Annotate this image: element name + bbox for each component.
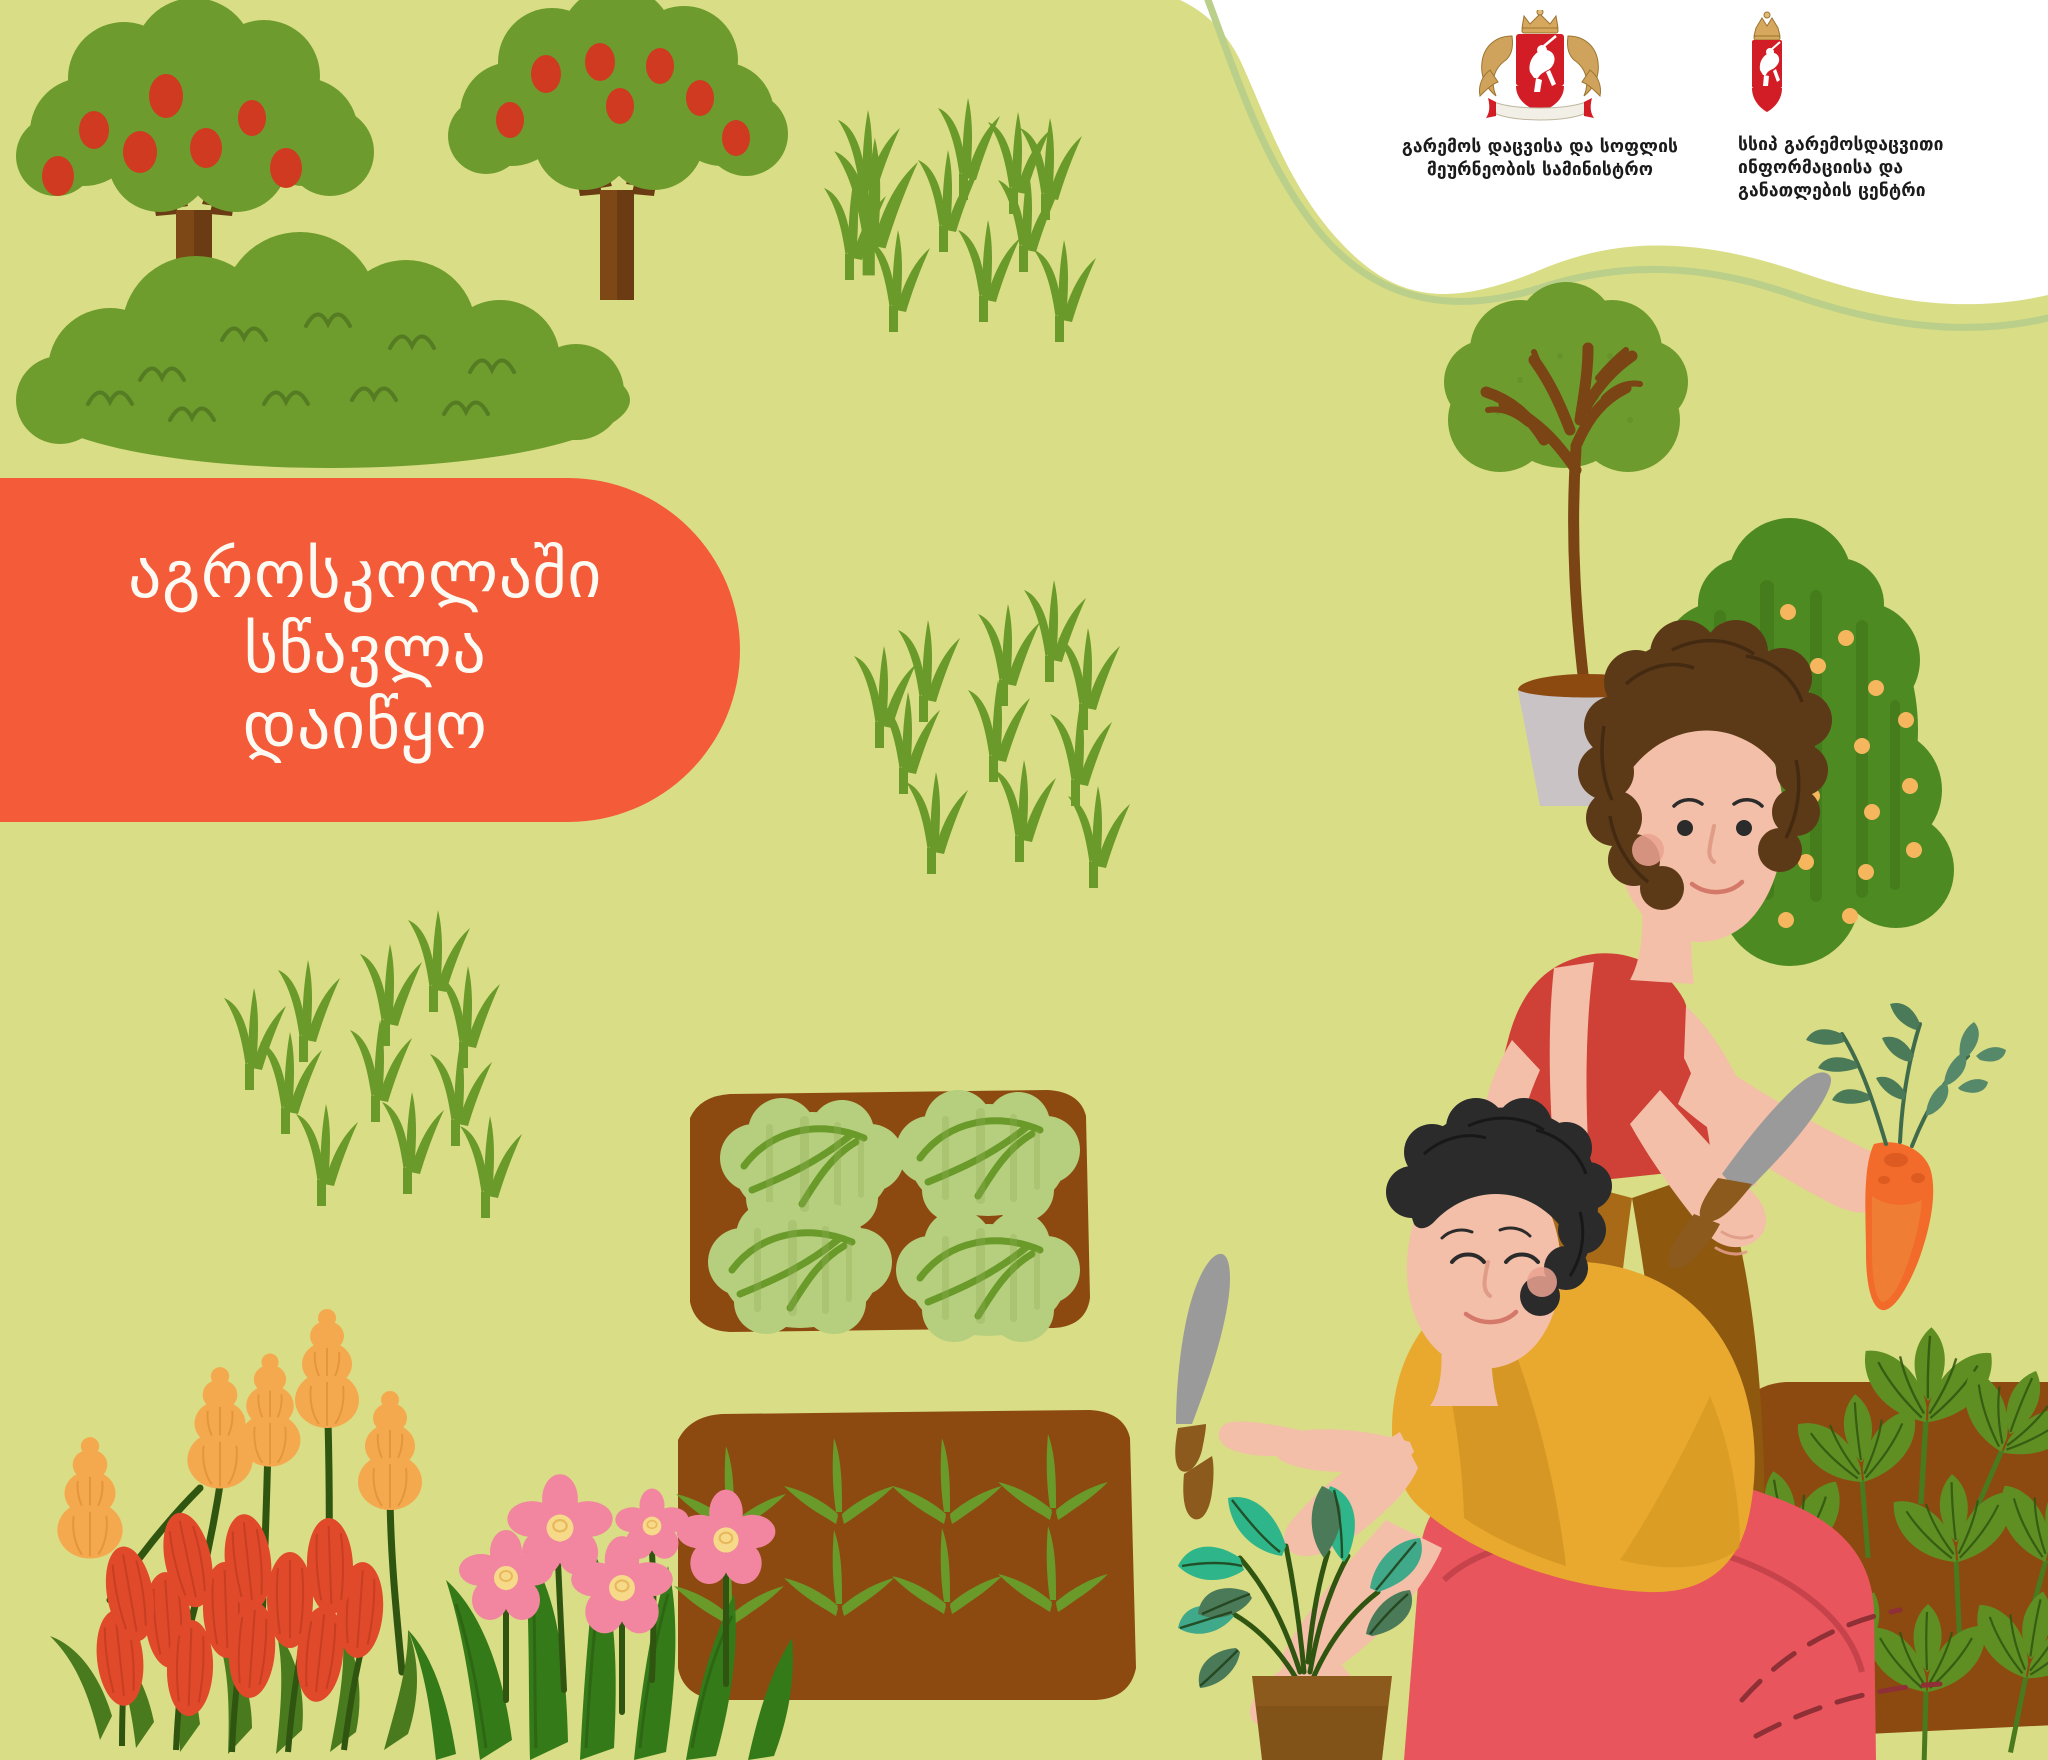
ministry-logo-block: გარემოს დაცვისა და სოფლის მეურნეობის სამ… [1390,10,1690,182]
title-line-2: სწავლა [10,612,720,687]
standing-eye-right [1736,820,1752,836]
poster-canvas: გარემოს დაცვისა და სოფლის მეურნეობის სამ… [0,0,2048,1760]
scene-illustration [0,0,2048,1760]
georgia-coat-of-arms-icon [1456,10,1624,128]
title-banner: აგროსკოლაში სწავლა დაიწყო [0,478,740,822]
title-line-1: აგროსკოლაში [10,537,720,612]
ministry-logo-caption: გარემოს დაცვისა და სოფლის მეურნეობის სამ… [1402,136,1678,182]
cabbage-bed [690,1090,1090,1342]
title-line-3: დაიწყო [10,688,720,763]
header-logos: გარემოს დაცვისა და სოფლის მეურნეობის სამ… [1390,10,2030,200]
standing-eye-left [1677,820,1693,836]
poster-title: აგროსკოლაში სწავლა დაიწყო [10,537,720,763]
georgia-shield-crest-icon [1738,10,1796,122]
center-logo-block: სსიპ გარემოსდაცვითი ინფორმაციისა და განა… [1738,10,2008,203]
center-logo-caption: სსიპ გარემოსდაცვითი ინფორმაციისა და განა… [1738,134,1944,203]
